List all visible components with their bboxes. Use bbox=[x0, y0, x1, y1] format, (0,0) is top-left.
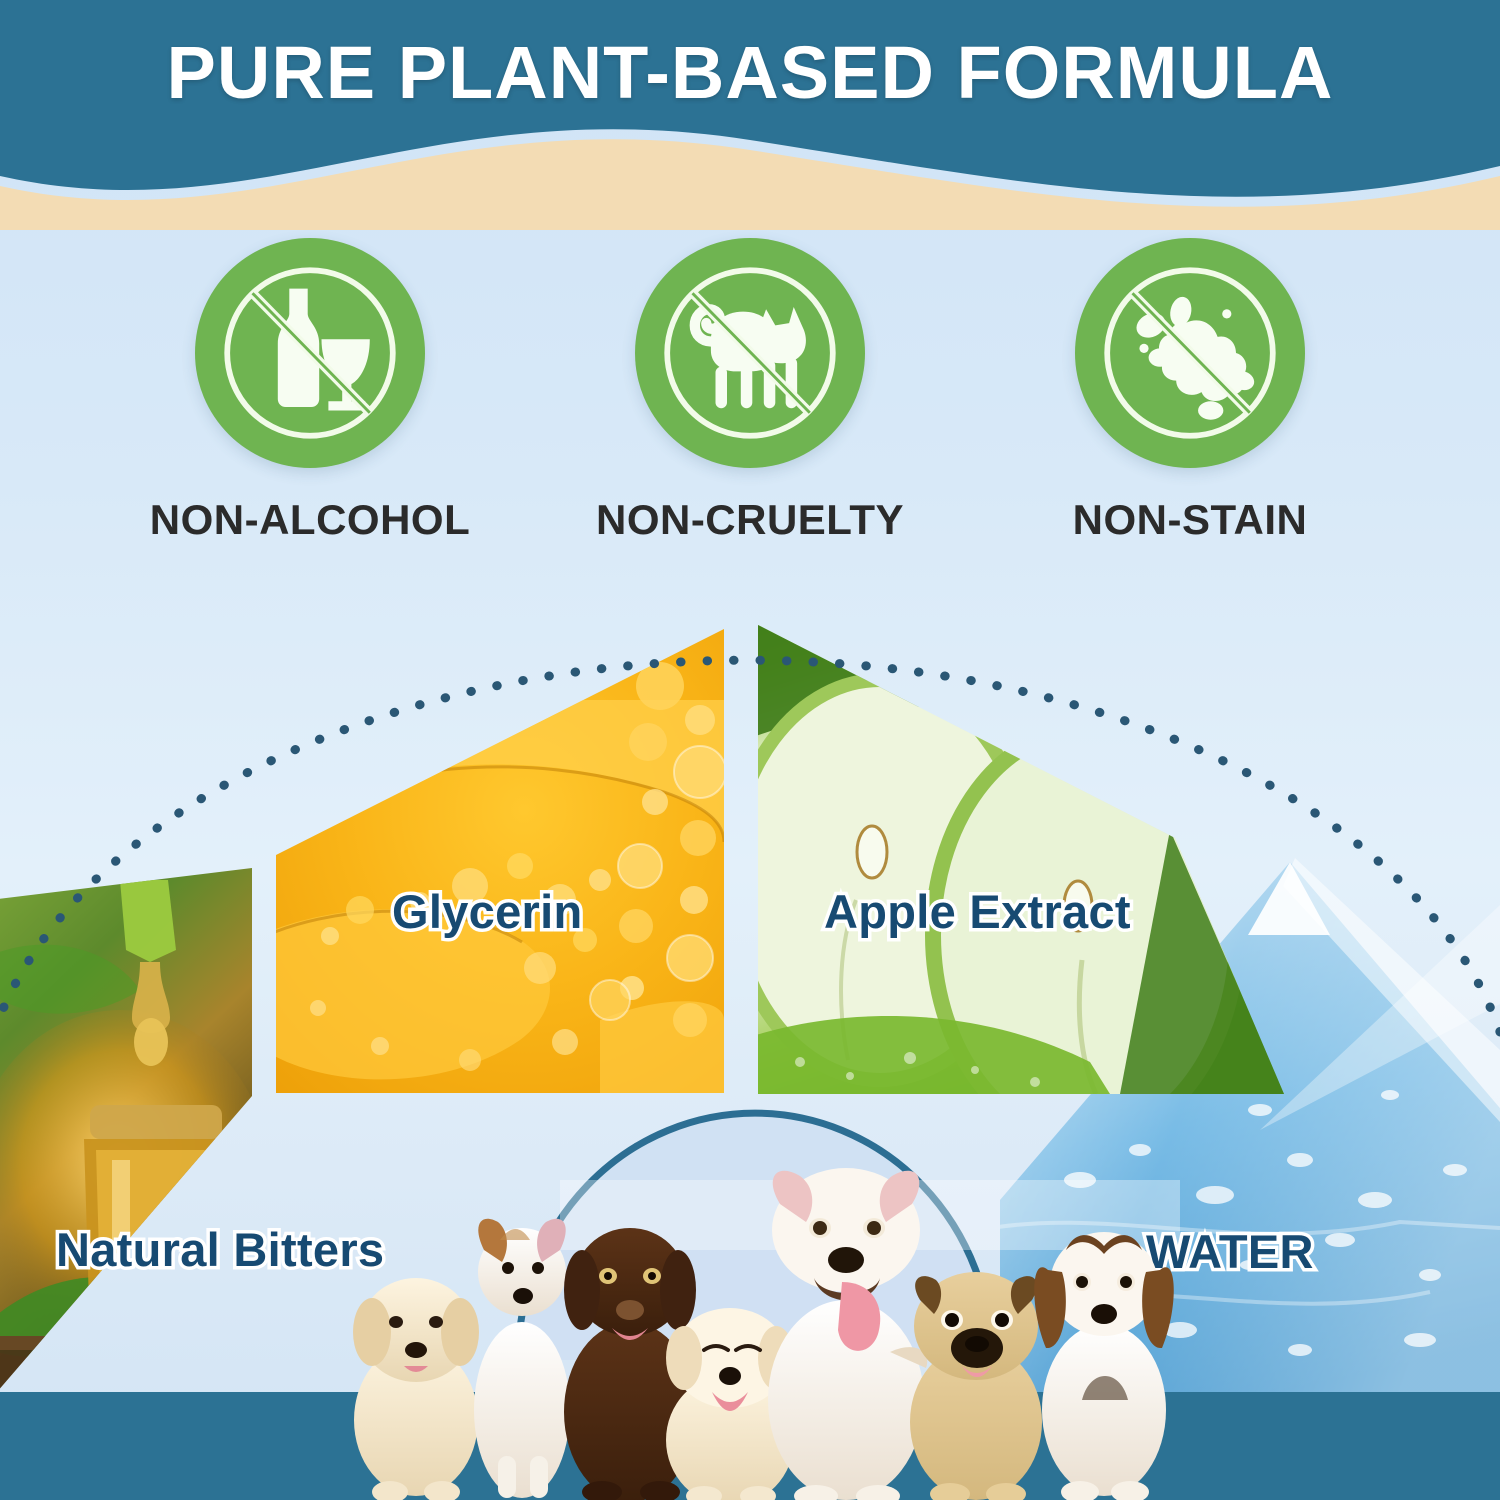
glycerin-label-text: Glycerin bbox=[392, 885, 583, 938]
badge-label-non-stain: NON-STAIN bbox=[1073, 496, 1308, 544]
no-alcohol-bottle-glass-icon bbox=[195, 238, 425, 468]
page-title: PURE PLANT-BASED FORMULA bbox=[0, 30, 1500, 115]
dog-pug bbox=[910, 1272, 1042, 1500]
badge-non-cruelty[interactable]: NON-CRUELTY bbox=[585, 238, 915, 558]
puppies-row bbox=[330, 1100, 1190, 1500]
dog-white-bulldog bbox=[768, 1168, 927, 1500]
badge-non-stain[interactable]: NON-STAIN bbox=[1025, 238, 1355, 558]
header-band: PURE PLANT-BASED FORMULA bbox=[0, 0, 1500, 230]
wedge-apple-extract bbox=[730, 600, 1300, 1140]
badge-label-non-alcohol: NON-ALCOHOL bbox=[150, 496, 470, 544]
dog-beagle bbox=[1034, 1232, 1174, 1500]
ingredient-label-glycerin: Glycerin Glycerin bbox=[392, 884, 583, 939]
ingredient-label-apple-extract: Apple Extract Apple Extract bbox=[824, 884, 1131, 939]
dog-jack-russell-terrier bbox=[474, 1219, 570, 1498]
no-cruelty-cat-icon bbox=[635, 238, 865, 468]
dog-golden-retriever-puppy bbox=[353, 1278, 479, 1500]
feature-badges: NON-ALCOHOL bbox=[0, 238, 1500, 558]
infographic-poster: PURE PLANT-BASED FORMULA NON-ALCOHOL bbox=[0, 0, 1500, 1500]
badge-circle-non-cruelty bbox=[635, 238, 865, 468]
badge-circle-non-stain bbox=[1075, 238, 1305, 468]
no-stain-splatter-icon bbox=[1075, 238, 1305, 468]
badge-non-alcohol[interactable]: NON-ALCOHOL bbox=[145, 238, 475, 558]
badge-label-non-cruelty: NON-CRUELTY bbox=[596, 496, 904, 544]
badge-circle-non-alcohol bbox=[195, 238, 425, 468]
apple-extract-label-text: Apple Extract bbox=[824, 885, 1131, 938]
